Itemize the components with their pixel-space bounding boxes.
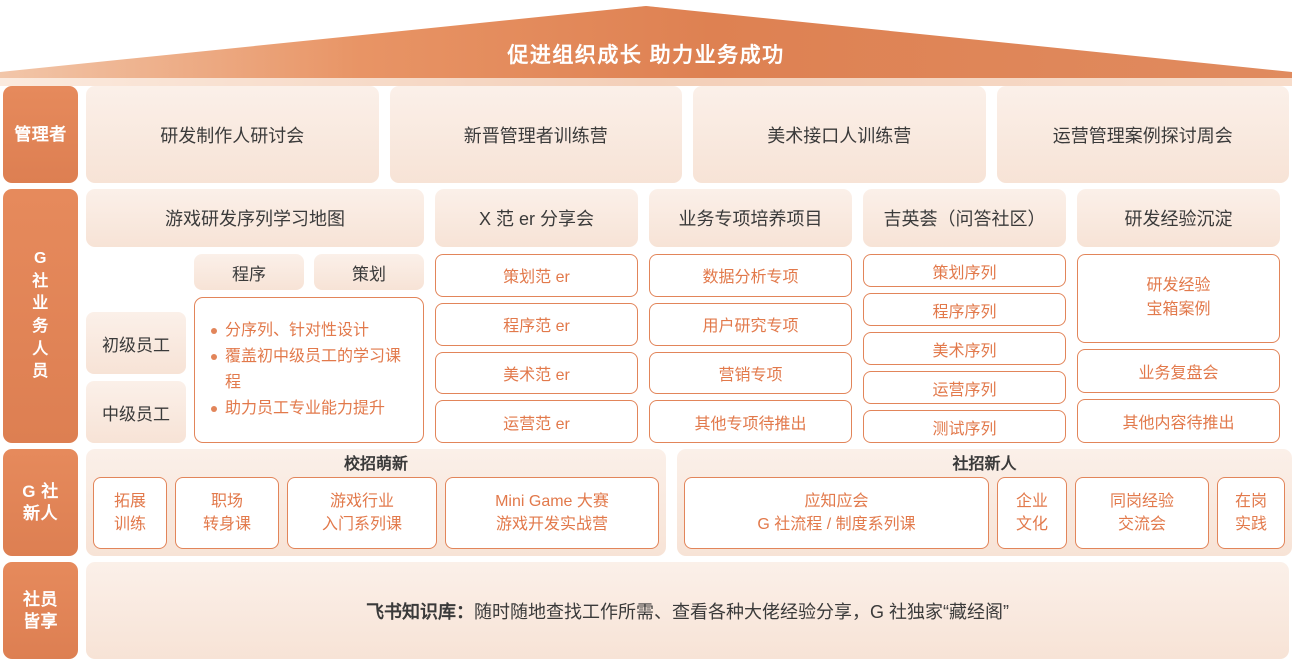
course-line1: 企业 xyxy=(1016,493,1048,510)
course-card[interactable]: 职场 转身课 xyxy=(175,477,279,549)
course-card[interactable]: 同岗经验 交流会 xyxy=(1075,477,1209,549)
discipline-tag-design[interactable]: 策划 xyxy=(314,254,424,290)
course-line2: 交流会 xyxy=(1118,516,1166,533)
learning-map-bullets: 分序列、针对性设计 覆盖初中级员工的学习课程 助力员工专业能力提升 xyxy=(194,297,424,443)
column-header: 研发经验沉淀 xyxy=(1077,189,1280,247)
list-item[interactable]: 程序序列 xyxy=(863,293,1066,326)
level-labels: 初级员工 中级员工 xyxy=(86,254,186,443)
sidebar-char: 人 xyxy=(32,339,49,362)
group-social-hires: 社招新人 应知应会 G 社流程 / 制度系列课 企业 文化 同岗经验 交流会 xyxy=(677,449,1292,556)
sidebar-char: 业 xyxy=(32,293,49,316)
course-line1: 应知应会 xyxy=(804,493,868,510)
column-header: 业务专项培养项目 xyxy=(649,189,852,247)
sidebar-line: 新人 xyxy=(22,503,58,525)
level-label-junior[interactable]: 初级员工 xyxy=(86,312,186,374)
course-card[interactable]: 在岗 实践 xyxy=(1217,477,1285,549)
course-line1: 职场 xyxy=(211,493,243,510)
list-item[interactable]: 运营序列 xyxy=(863,371,1066,404)
level-label-intermediate[interactable]: 中级员工 xyxy=(86,381,186,443)
group-title: 校招萌新 xyxy=(93,453,659,477)
knowledge-base-text: 随时随地查找工作所需、查看各种大佬经验分享，G 社独家“藏经阁” xyxy=(474,602,1009,622)
sidebar-line: 社员 xyxy=(23,589,58,611)
list-item[interactable]: 策划范 er xyxy=(435,254,638,297)
sidebar-label-newcomers[interactable]: G 社 新人 xyxy=(3,449,78,556)
course-line2: 训练 xyxy=(114,516,146,533)
list-item[interactable]: 程序范 er xyxy=(435,303,638,346)
list-item[interactable]: 研发经验 宝箱案例 xyxy=(1077,254,1280,343)
managers-content: 研发制作人研讨会 新晋管理者训练营 美术接口人训练营 运营管理案例探讨周会 xyxy=(86,86,1292,183)
list-item[interactable]: 数据分析专项 xyxy=(649,254,852,297)
sidebar-char: 务 xyxy=(32,316,49,339)
manager-card[interactable]: 美术接口人训练营 xyxy=(693,86,986,183)
list-item[interactable]: 运营范 er xyxy=(435,400,638,443)
course-card[interactable]: 拓展 训练 xyxy=(93,477,167,549)
bullet-item: 覆盖初中级员工的学习课程 xyxy=(225,344,411,396)
row-newcomers: G 社 新人 校招萌新 拓展 训练 职场 转身课 xyxy=(0,449,1292,556)
list-item[interactable]: 美术范 er xyxy=(435,352,638,395)
sidebar-label-all-members[interactable]: 社员 皆享 xyxy=(3,562,78,659)
learning-map-detail: 程序 策划 分序列、针对性设计 覆盖初中级员工的学习课程 助力员工专业能力提升 xyxy=(194,254,424,443)
pyramid-diagram: 促进组织成长 助力业务成功 管理者 研发制作人研讨会 新晋管理者训练营 美术接口… xyxy=(0,0,1292,666)
sidebar-label-managers[interactable]: 管理者 xyxy=(3,86,78,183)
group-title: 社招新人 xyxy=(684,453,1285,477)
column-qa-community: 吉英荟（问答社区） 策划序列 程序序列 美术序列 运营序列 测试序列 xyxy=(863,189,1066,443)
column-experience: 研发经验沉淀 研发经验 宝箱案例 业务复盘会 其他内容待推出 xyxy=(1077,189,1280,443)
course-line1: 同岗经验 xyxy=(1110,493,1174,510)
knowledge-base-label: 飞书知识库： xyxy=(366,602,474,622)
manager-card[interactable]: 运营管理案例探讨周会 xyxy=(997,86,1290,183)
course-card[interactable]: 游戏行业 入门系列课 xyxy=(287,477,437,549)
list-item[interactable]: 策划序列 xyxy=(863,254,1066,287)
course-line2: 转身课 xyxy=(203,516,251,533)
group-campus-hires: 校招萌新 拓展 训练 职场 转身课 游戏行业 入门系列课 xyxy=(86,449,666,556)
course-line2: 文化 xyxy=(1016,516,1048,533)
manager-card[interactable]: 研发制作人研讨会 xyxy=(86,86,379,183)
sidebar-label-business-staff[interactable]: G 社 业 务 人 员 xyxy=(3,189,78,443)
column-header: 游戏研发序列学习地图 xyxy=(86,189,424,247)
course-line1: 游戏行业 xyxy=(330,493,394,510)
row-business-staff: G 社 业 务 人 员 游戏研发序列学习地图 初级员工 xyxy=(0,189,1292,443)
row-managers: 管理者 研发制作人研讨会 新晋管理者训练营 美术接口人训练营 运营管理案例探讨周… xyxy=(0,86,1292,183)
discipline-tag-program[interactable]: 程序 xyxy=(194,254,304,290)
bullet-item: 助力员工专业能力提升 xyxy=(225,396,411,422)
column-header: 吉英荟（问答社区） xyxy=(863,189,1066,247)
list-item[interactable]: 测试序列 xyxy=(863,410,1066,443)
bullet-item: 分序列、针对性设计 xyxy=(225,318,411,344)
pyramid-rows: 管理者 研发制作人研讨会 新晋管理者训练营 美术接口人训练营 运营管理案例探讨周… xyxy=(0,86,1292,659)
list-item[interactable]: 业务复盘会 xyxy=(1077,349,1280,393)
list-item[interactable]: 其他内容待推出 xyxy=(1077,399,1280,443)
course-card[interactable]: 应知应会 G 社流程 / 制度系列课 xyxy=(684,477,989,549)
column-special-programs: 业务专项培养项目 数据分析专项 用户研究专项 营销专项 其他专项待推出 xyxy=(649,189,852,443)
list-item[interactable]: 美术序列 xyxy=(863,332,1066,365)
column-learning-map: 游戏研发序列学习地图 初级员工 中级员工 程序 策划 xyxy=(86,189,424,443)
sidebar-char: 社 xyxy=(32,271,49,294)
list-item[interactable]: 营销专项 xyxy=(649,352,852,395)
sidebar-char: G xyxy=(32,248,49,271)
manager-card[interactable]: 新晋管理者训练营 xyxy=(390,86,683,183)
course-line2: G 社流程 / 制度系列课 xyxy=(757,516,915,533)
course-line1: 拓展 xyxy=(114,493,146,510)
knowledge-base-banner[interactable]: 飞书知识库：随时随地查找工作所需、查看各种大佬经验分享，G 社独家“藏经阁” xyxy=(86,562,1289,659)
course-card[interactable]: Mini Game 大赛 游戏开发实战营 xyxy=(445,477,659,549)
list-item[interactable]: 用户研究专项 xyxy=(649,303,852,346)
column-xfaner: X 范 er 分享会 策划范 er 程序范 er 美术范 er 运营范 er xyxy=(435,189,638,443)
course-line2: 入门系列课 xyxy=(322,516,402,533)
column-header: X 范 er 分享会 xyxy=(435,189,638,247)
row-all-members: 社员 皆享 飞书知识库：随时随地查找工作所需、查看各种大佬经验分享，G 社独家“… xyxy=(0,562,1292,659)
sidebar-char: 员 xyxy=(32,361,49,384)
sidebar-line: 皆享 xyxy=(23,611,58,633)
page-title: 促进组织成长 助力业务成功 xyxy=(0,0,1292,80)
list-item[interactable]: 其他专项待推出 xyxy=(649,400,852,443)
course-line1: Mini Game 大赛 xyxy=(495,493,609,510)
all-members-content: 飞书知识库：随时随地查找工作所需、查看各种大佬经验分享，G 社独家“藏经阁” xyxy=(86,562,1292,659)
business-content: 游戏研发序列学习地图 初级员工 中级员工 程序 策划 xyxy=(86,189,1292,443)
course-line1: 在岗 xyxy=(1235,493,1267,510)
course-line2: 实践 xyxy=(1235,516,1267,533)
course-card[interactable]: 企业 文化 xyxy=(997,477,1067,549)
sidebar-line: G 社 xyxy=(22,481,58,503)
roof-banner: 促进组织成长 助力业务成功 xyxy=(0,0,1292,86)
newcomers-content: 校招萌新 拓展 训练 职场 转身课 游戏行业 入门系列课 xyxy=(86,449,1292,556)
course-line2: 游戏开发实战营 xyxy=(496,516,608,533)
